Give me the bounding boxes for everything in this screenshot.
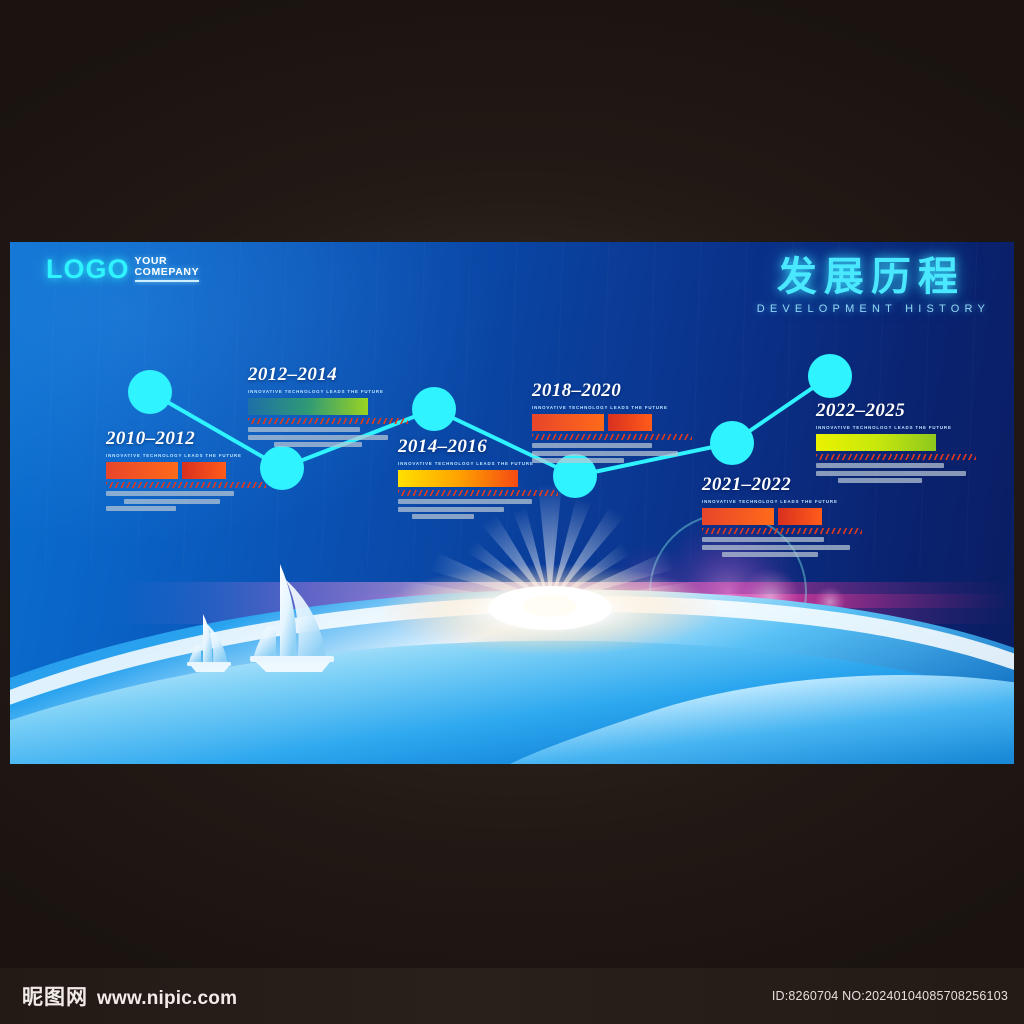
milestone-bar (248, 398, 368, 415)
milestone-chevrons (106, 482, 266, 488)
milestone-bar (398, 470, 518, 487)
milestone-placeholder-lines (398, 499, 558, 519)
watermark: 昵图网 www.nipic.com (22, 981, 237, 1011)
milestone-chevrons (816, 454, 976, 460)
timeline-node-2022-2025[interactable] (808, 354, 852, 398)
milestone-bars (816, 434, 976, 451)
milestone-year: 2010–2012 (106, 428, 266, 450)
milestone-bar (106, 462, 178, 479)
milestone-card-2021-2022[interactable]: 2021–2022 INNOVATIVE TECHNOLOGY LEADS TH… (702, 474, 862, 557)
milestone-bars (106, 462, 266, 479)
watermark-url: www.nipic.com (97, 988, 237, 1010)
milestone-placeholder-lines (248, 427, 408, 447)
milestone-bar (816, 434, 936, 451)
milestone-card-2018-2020[interactable]: 2018–2020 INNOVATIVE TECHNOLOGY LEADS TH… (532, 380, 692, 463)
milestone-placeholder-lines (702, 537, 862, 557)
milestone-card-2010-2012[interactable]: 2010–2012 INNOVATIVE TECHNOLOGY LEADS TH… (106, 428, 266, 511)
asset-id-code: ID:8260704 NO:20240104085708256103 (772, 989, 1008, 1003)
milestone-subtitle: INNOVATIVE TECHNOLOGY LEADS THE FUTURE (702, 499, 862, 504)
milestone-bar (778, 508, 822, 525)
timeline-node-2010-2012[interactable] (128, 370, 172, 414)
poster-canvas: LOGO YOUR COMEPANY 发展历程 DEVELOPMENT HIST… (10, 242, 1014, 764)
milestone-bars (248, 398, 408, 415)
milestone-bar (702, 508, 774, 525)
milestone-bar (182, 462, 226, 479)
milestone-bars (532, 414, 692, 431)
milestone-subtitle: INNOVATIVE TECHNOLOGY LEADS THE FUTURE (532, 405, 692, 410)
milestone-bars (398, 470, 558, 487)
site-footer: 昵图网 www.nipic.com ID:8260704 NO:20240104… (0, 968, 1024, 1024)
milestone-chevrons (248, 418, 408, 424)
milestone-placeholder-lines (106, 491, 266, 511)
milestone-chevrons (532, 434, 692, 440)
milestone-card-2012-2014[interactable]: 2012–2014 INNOVATIVE TECHNOLOGY LEADS TH… (248, 364, 408, 447)
milestone-placeholder-lines (532, 443, 692, 463)
milestone-chevrons (702, 528, 862, 534)
milestone-year: 2018–2020 (532, 380, 692, 402)
timeline-node-2021-2022[interactable] (710, 421, 754, 465)
milestone-year: 2022–2025 (816, 400, 976, 422)
timeline-node-2014-2016[interactable] (412, 387, 456, 431)
watermark-cn: 昵图网 (22, 981, 88, 1011)
milestone-chevrons (398, 490, 558, 496)
milestone-bars (702, 508, 862, 525)
milestone-year: 2012–2014 (248, 364, 408, 386)
milestone-subtitle: INNOVATIVE TECHNOLOGY LEADS THE FUTURE (816, 425, 976, 430)
timeline-node-2012-2014[interactable] (260, 446, 304, 490)
milestone-subtitle: INNOVATIVE TECHNOLOGY LEADS THE FUTURE (106, 453, 266, 458)
milestone-card-2022-2025[interactable]: 2022–2025 INNOVATIVE TECHNOLOGY LEADS TH… (816, 400, 976, 483)
milestone-bar (532, 414, 604, 431)
milestone-bar (608, 414, 652, 431)
milestone-subtitle: INNOVATIVE TECHNOLOGY LEADS THE FUTURE (248, 389, 408, 394)
milestone-placeholder-lines (816, 463, 976, 483)
